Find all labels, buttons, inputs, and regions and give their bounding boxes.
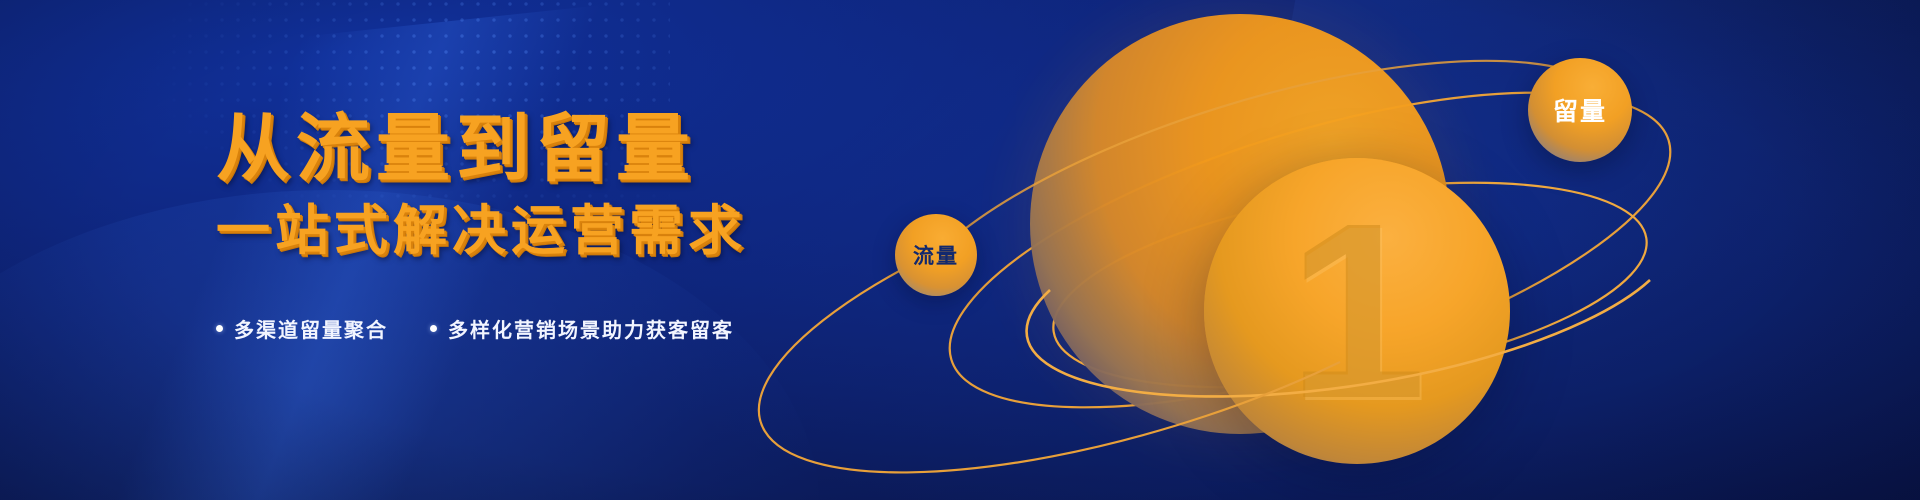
sphere-illustration: 1 流量 留量	[880, 0, 1920, 500]
bullet-dot-icon	[216, 325, 223, 332]
bullet-dot-icon	[430, 325, 437, 332]
orbit-rings-front	[880, 0, 1920, 500]
headline-line-1: 从流量到留量	[216, 112, 916, 186]
bullet-label: 多渠道留量聚合	[234, 314, 388, 343]
badge-traffic-label: 流量	[913, 240, 959, 270]
headline-line-2: 一站式解决运营需求	[216, 204, 916, 258]
list-item: 多样化营销场景助力获客留客	[430, 314, 734, 343]
banner-copy: 从流量到留量 一站式解决运营需求 多渠道留量聚合 多样化营销场景助力获客留客	[216, 112, 916, 343]
bullet-label: 多样化营销场景助力获客留客	[448, 314, 734, 343]
badge-retention-label: 留量	[1553, 92, 1607, 128]
list-item: 多渠道留量聚合	[216, 314, 388, 343]
orbit-arc-lower	[1027, 280, 1650, 396]
badge-retention: 留量	[1528, 58, 1632, 162]
promo-banner: 从流量到留量 一站式解决运营需求 多渠道留量聚合 多样化营销场景助力获客留客	[0, 0, 1920, 500]
feature-bullet-list: 多渠道留量聚合 多样化营销场景助力获客留客	[216, 314, 916, 343]
